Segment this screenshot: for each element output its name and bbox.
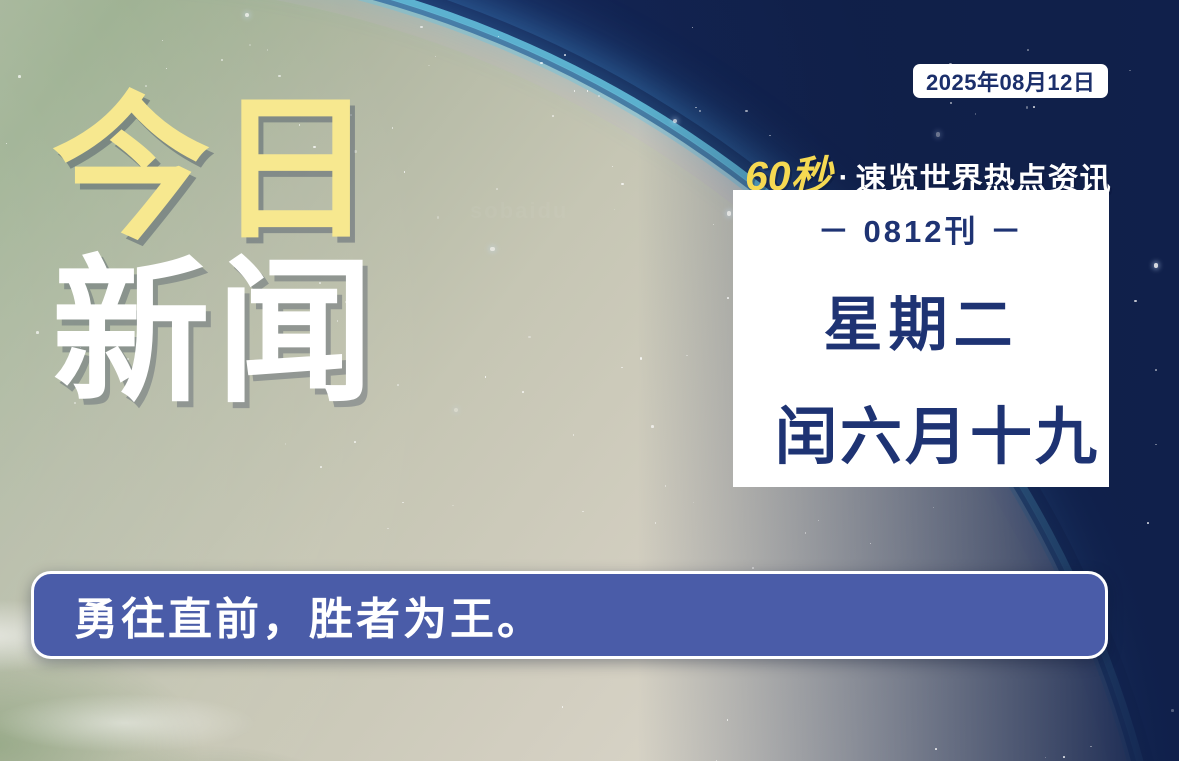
star-dot <box>402 502 404 504</box>
star-dot <box>598 95 600 97</box>
star-dot <box>933 507 935 509</box>
star-dot <box>1045 757 1047 759</box>
star-dot <box>582 511 584 513</box>
page-title: 今日 新闻 <box>52 96 380 407</box>
star-dot <box>1155 369 1157 371</box>
star-dot <box>621 183 624 186</box>
watermark-text: sobaidu <box>470 198 568 224</box>
star-dot <box>221 59 224 62</box>
star-dot <box>1134 300 1137 303</box>
star-dot <box>1147 522 1149 524</box>
news-poster: sobaidu 今日 新闻 2025年08月12日 60秒 · 速览世界热点资讯… <box>0 0 1179 761</box>
star-dot <box>249 44 251 46</box>
issue-number: － 0812刊 － <box>818 206 1024 251</box>
star-dot <box>562 706 564 708</box>
star-dot <box>699 110 702 113</box>
star-dot <box>1129 70 1131 72</box>
star-dot <box>1154 263 1158 267</box>
star-dot <box>18 75 21 78</box>
star-dot <box>614 209 616 211</box>
star-dot <box>640 357 643 360</box>
star-dot <box>437 216 440 219</box>
star-dot <box>574 90 576 92</box>
star-dot <box>621 367 623 369</box>
title-line-jinri: 今日 <box>52 96 380 245</box>
title-line-xinwen: 新闻 <box>52 259 380 408</box>
star-dot <box>1027 49 1029 51</box>
star-dot <box>673 119 677 123</box>
star-dot <box>1090 746 1092 748</box>
star-dot <box>496 188 498 190</box>
star-dot <box>404 171 406 173</box>
star-dot <box>392 127 394 129</box>
star-dot <box>498 36 500 38</box>
star-dot <box>36 331 39 334</box>
weekday-label: 星期二 <box>823 277 1018 362</box>
star-dot <box>936 132 940 136</box>
star-dot <box>686 355 688 357</box>
star-dot <box>1033 106 1035 108</box>
star-dot <box>745 110 748 113</box>
star-dot <box>655 522 657 524</box>
slogan-text: 勇往直前，胜者为王。 <box>74 583 544 647</box>
star-dot <box>485 376 487 378</box>
star-dot <box>245 13 249 17</box>
star-dot <box>278 75 281 78</box>
star-dot <box>950 102 953 105</box>
lunar-date-wrap: 闰六月十九 <box>733 386 1109 470</box>
star-dot <box>665 485 667 487</box>
star-dot <box>975 113 977 115</box>
star-dot <box>1026 106 1029 109</box>
star-dot <box>935 748 937 750</box>
star-dot <box>162 40 164 42</box>
star-dot <box>490 247 494 251</box>
star-dot <box>612 166 614 168</box>
star-dot <box>552 115 554 117</box>
star-dot <box>1063 756 1065 758</box>
star-dot <box>727 719 729 721</box>
star-dot <box>693 502 695 504</box>
star-dot <box>428 65 430 67</box>
star-dot <box>1155 444 1157 446</box>
issue-card: － 0812刊 － 星期二 闰六月十九 <box>733 190 1109 487</box>
star-dot <box>727 211 731 215</box>
star-dot <box>870 543 872 545</box>
star-dot <box>452 505 454 507</box>
lunar-date: 闰六月十九 <box>775 386 1100 476</box>
star-dot <box>769 135 771 137</box>
star-dot <box>752 567 754 569</box>
star-dot <box>267 49 269 51</box>
star-dot <box>454 408 458 412</box>
star-dot <box>564 54 566 56</box>
star-dot <box>354 441 356 443</box>
star-dot <box>435 56 437 58</box>
star-dot <box>651 425 654 428</box>
slogan-banner: 勇往直前，胜者为王。 <box>31 571 1108 659</box>
star-dot <box>540 62 543 65</box>
star-dot <box>320 466 322 468</box>
star-dot <box>692 27 694 29</box>
star-dot <box>727 297 729 299</box>
star-dot <box>387 528 389 530</box>
star-dot <box>397 384 399 386</box>
star-dot <box>285 443 287 445</box>
star-dot <box>818 520 820 522</box>
star-dot <box>166 68 168 70</box>
star-dot <box>573 434 575 436</box>
star-dot <box>1171 709 1174 712</box>
star-dot <box>420 26 423 29</box>
star-dot <box>587 90 589 92</box>
date-badge: 2025年08月12日 <box>913 64 1108 98</box>
star-dot <box>713 224 715 226</box>
star-dot <box>528 336 531 339</box>
star-dot <box>805 532 807 534</box>
star-dot <box>695 107 697 109</box>
star-dot <box>6 143 8 145</box>
star-dot <box>522 391 524 393</box>
